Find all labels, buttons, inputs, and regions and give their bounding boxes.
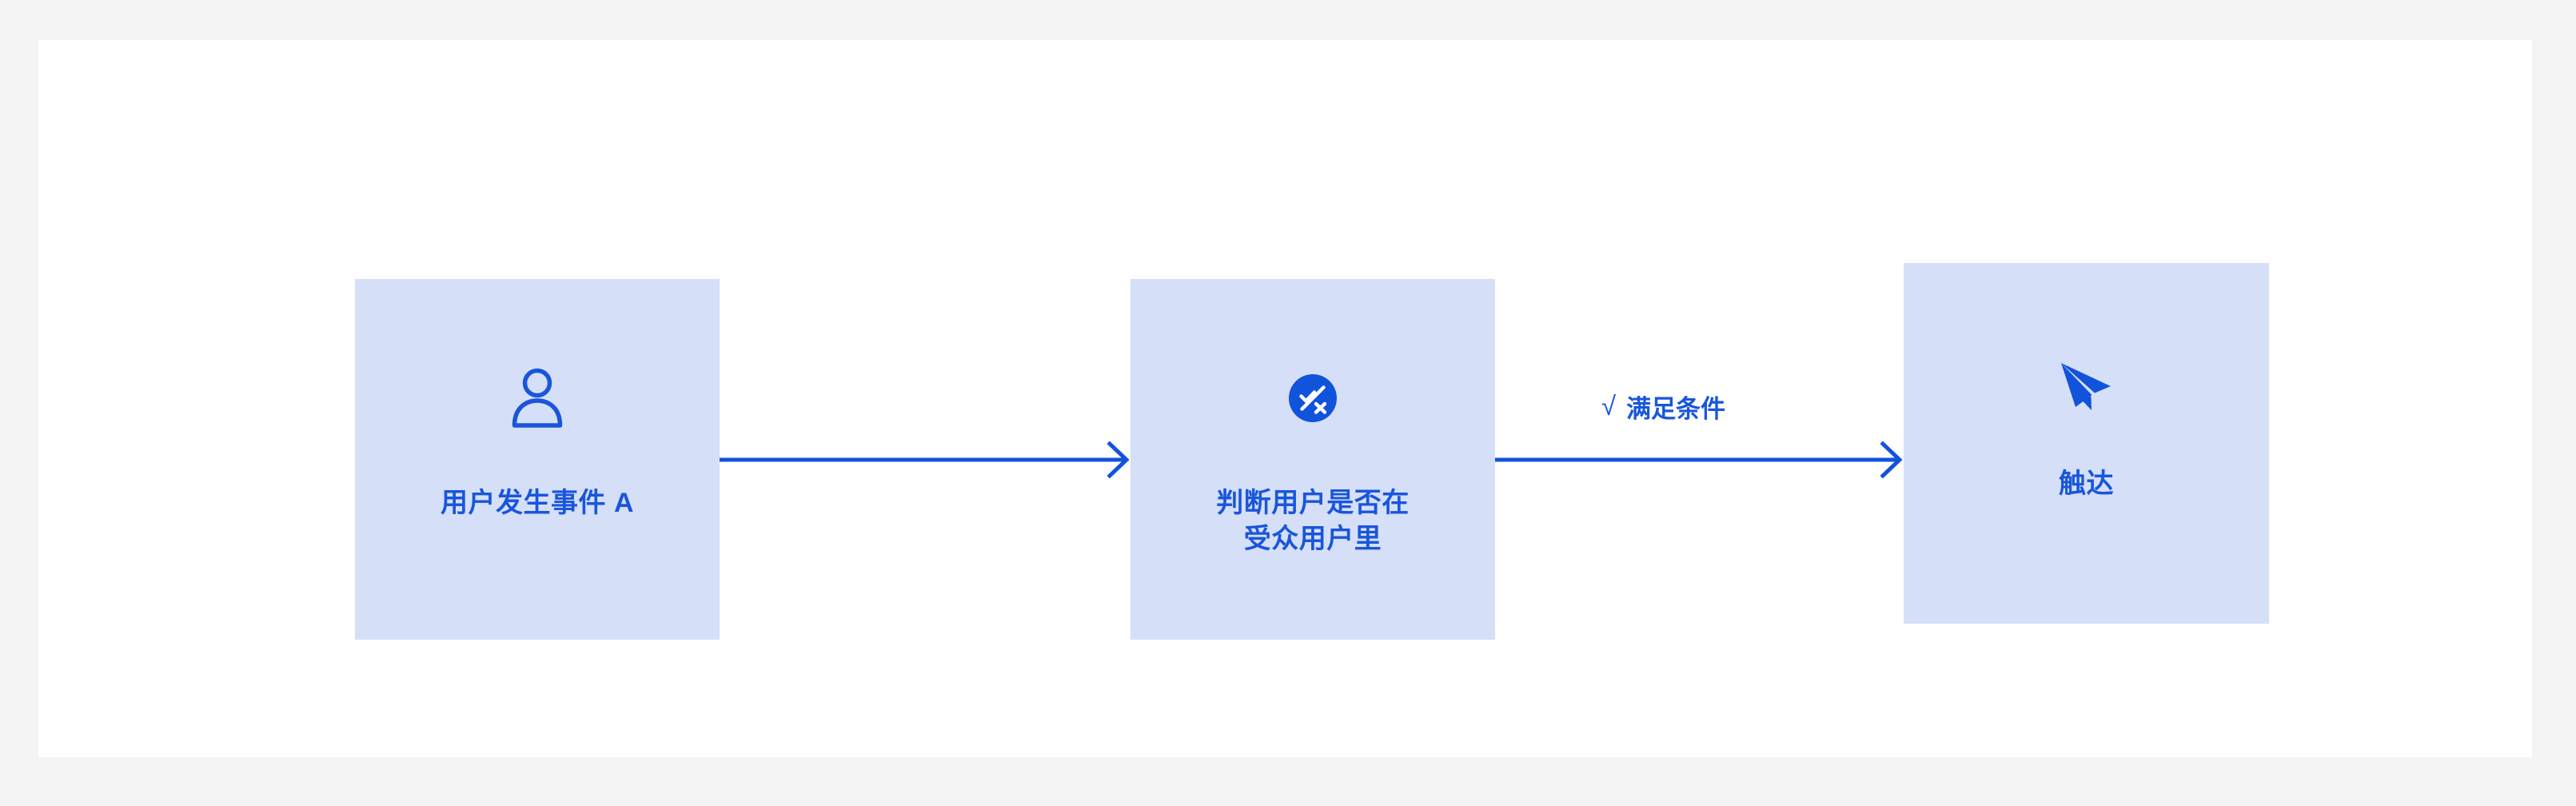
flow-node-user-event[interactable]: 用户发生事件 A	[355, 279, 720, 640]
flow-connector-event-to-condition	[720, 436, 1130, 484]
flow-node-label: 触达	[1904, 466, 2269, 502]
diagram-card: 用户发生事件 A 判断用户是否在 受众用户里	[38, 40, 2532, 757]
paper-plane-icon	[1904, 353, 2269, 421]
edge-label-satisfies-condition: √ 满足条件	[1601, 389, 1725, 425]
flow-node-reach[interactable]: 触达	[1904, 263, 2269, 624]
condition-check-cross-icon	[1130, 364, 1495, 433]
flow-node-label: 用户发生事件 A	[355, 485, 720, 521]
user-icon	[355, 364, 720, 433]
flow-node-condition[interactable]: 判断用户是否在 受众用户里	[1130, 279, 1495, 640]
diagram-canvas: 用户发生事件 A 判断用户是否在 受众用户里	[0, 0, 2576, 806]
edge-label-text: 满足条件	[1626, 389, 1725, 425]
check-icon: √	[1601, 393, 1616, 419]
flow-connector-condition-to-reach	[1495, 436, 1904, 484]
flow-node-label: 判断用户是否在 受众用户里	[1130, 485, 1495, 557]
